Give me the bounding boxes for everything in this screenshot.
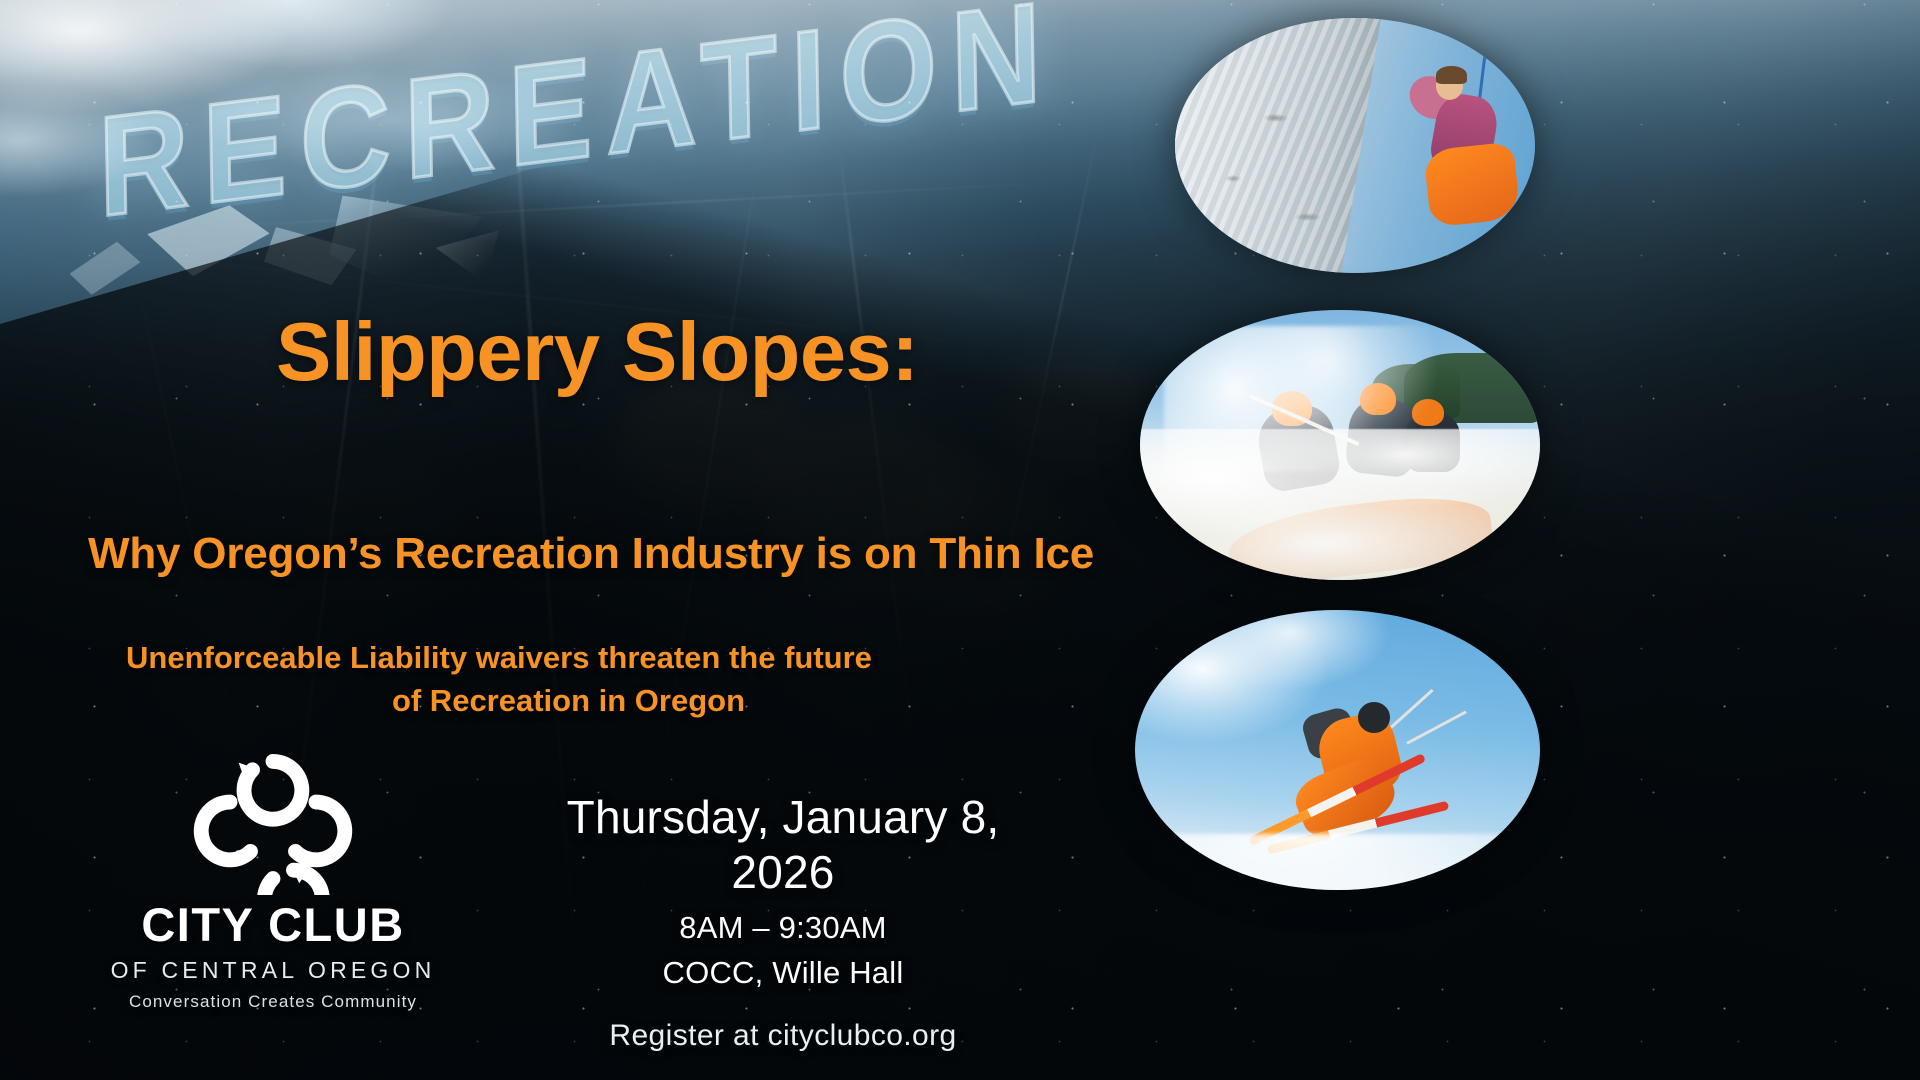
water-spray: [1164, 326, 1452, 472]
skier-helmet: [1358, 702, 1390, 733]
event-details: Thursday, January 8, 2026 8AM – 9:30AM C…: [548, 790, 1018, 1055]
poster-content: Slippery Slopes: Why Oregon’s Recreation…: [0, 0, 1140, 1080]
city-club-logo: CITY CLUB OF CENTRAL OREGON Conversation…: [108, 745, 438, 1012]
photo-skier: [1135, 610, 1540, 890]
event-poster: RECREATION: [0, 0, 1920, 1080]
tagline-line-2: of Recreation in Oregon: [126, 680, 1011, 723]
event-title: Slippery Slopes:: [276, 304, 918, 400]
event-subtitle: Why Oregon’s Recreation Industry is on T…: [88, 529, 1094, 579]
logo-tagline: Conversation Creates Community: [108, 992, 438, 1012]
event-venue: COCC, Wille Hall: [548, 953, 1018, 994]
logo-name: CITY CLUB: [108, 897, 438, 952]
event-date: Thursday, January 8, 2026: [548, 790, 1018, 900]
event-tagline: Unenforceable Liability waivers threaten…: [126, 637, 1126, 723]
tagline-line-1: Unenforceable Liability waivers threaten…: [126, 637, 1126, 680]
snow-ground: [1135, 834, 1540, 890]
climber-hair: [1436, 66, 1467, 84]
photo-ice-climber: [1175, 18, 1535, 273]
event-time: 8AM – 9:30AM: [548, 908, 1018, 949]
logo-region: OF CENTRAL OREGON: [108, 957, 438, 984]
city-club-logo-mark: [108, 745, 438, 895]
registration-link[interactable]: Register at cityclubco.org: [548, 1016, 1018, 1055]
photo-whitewater-rafting: [1140, 310, 1540, 580]
